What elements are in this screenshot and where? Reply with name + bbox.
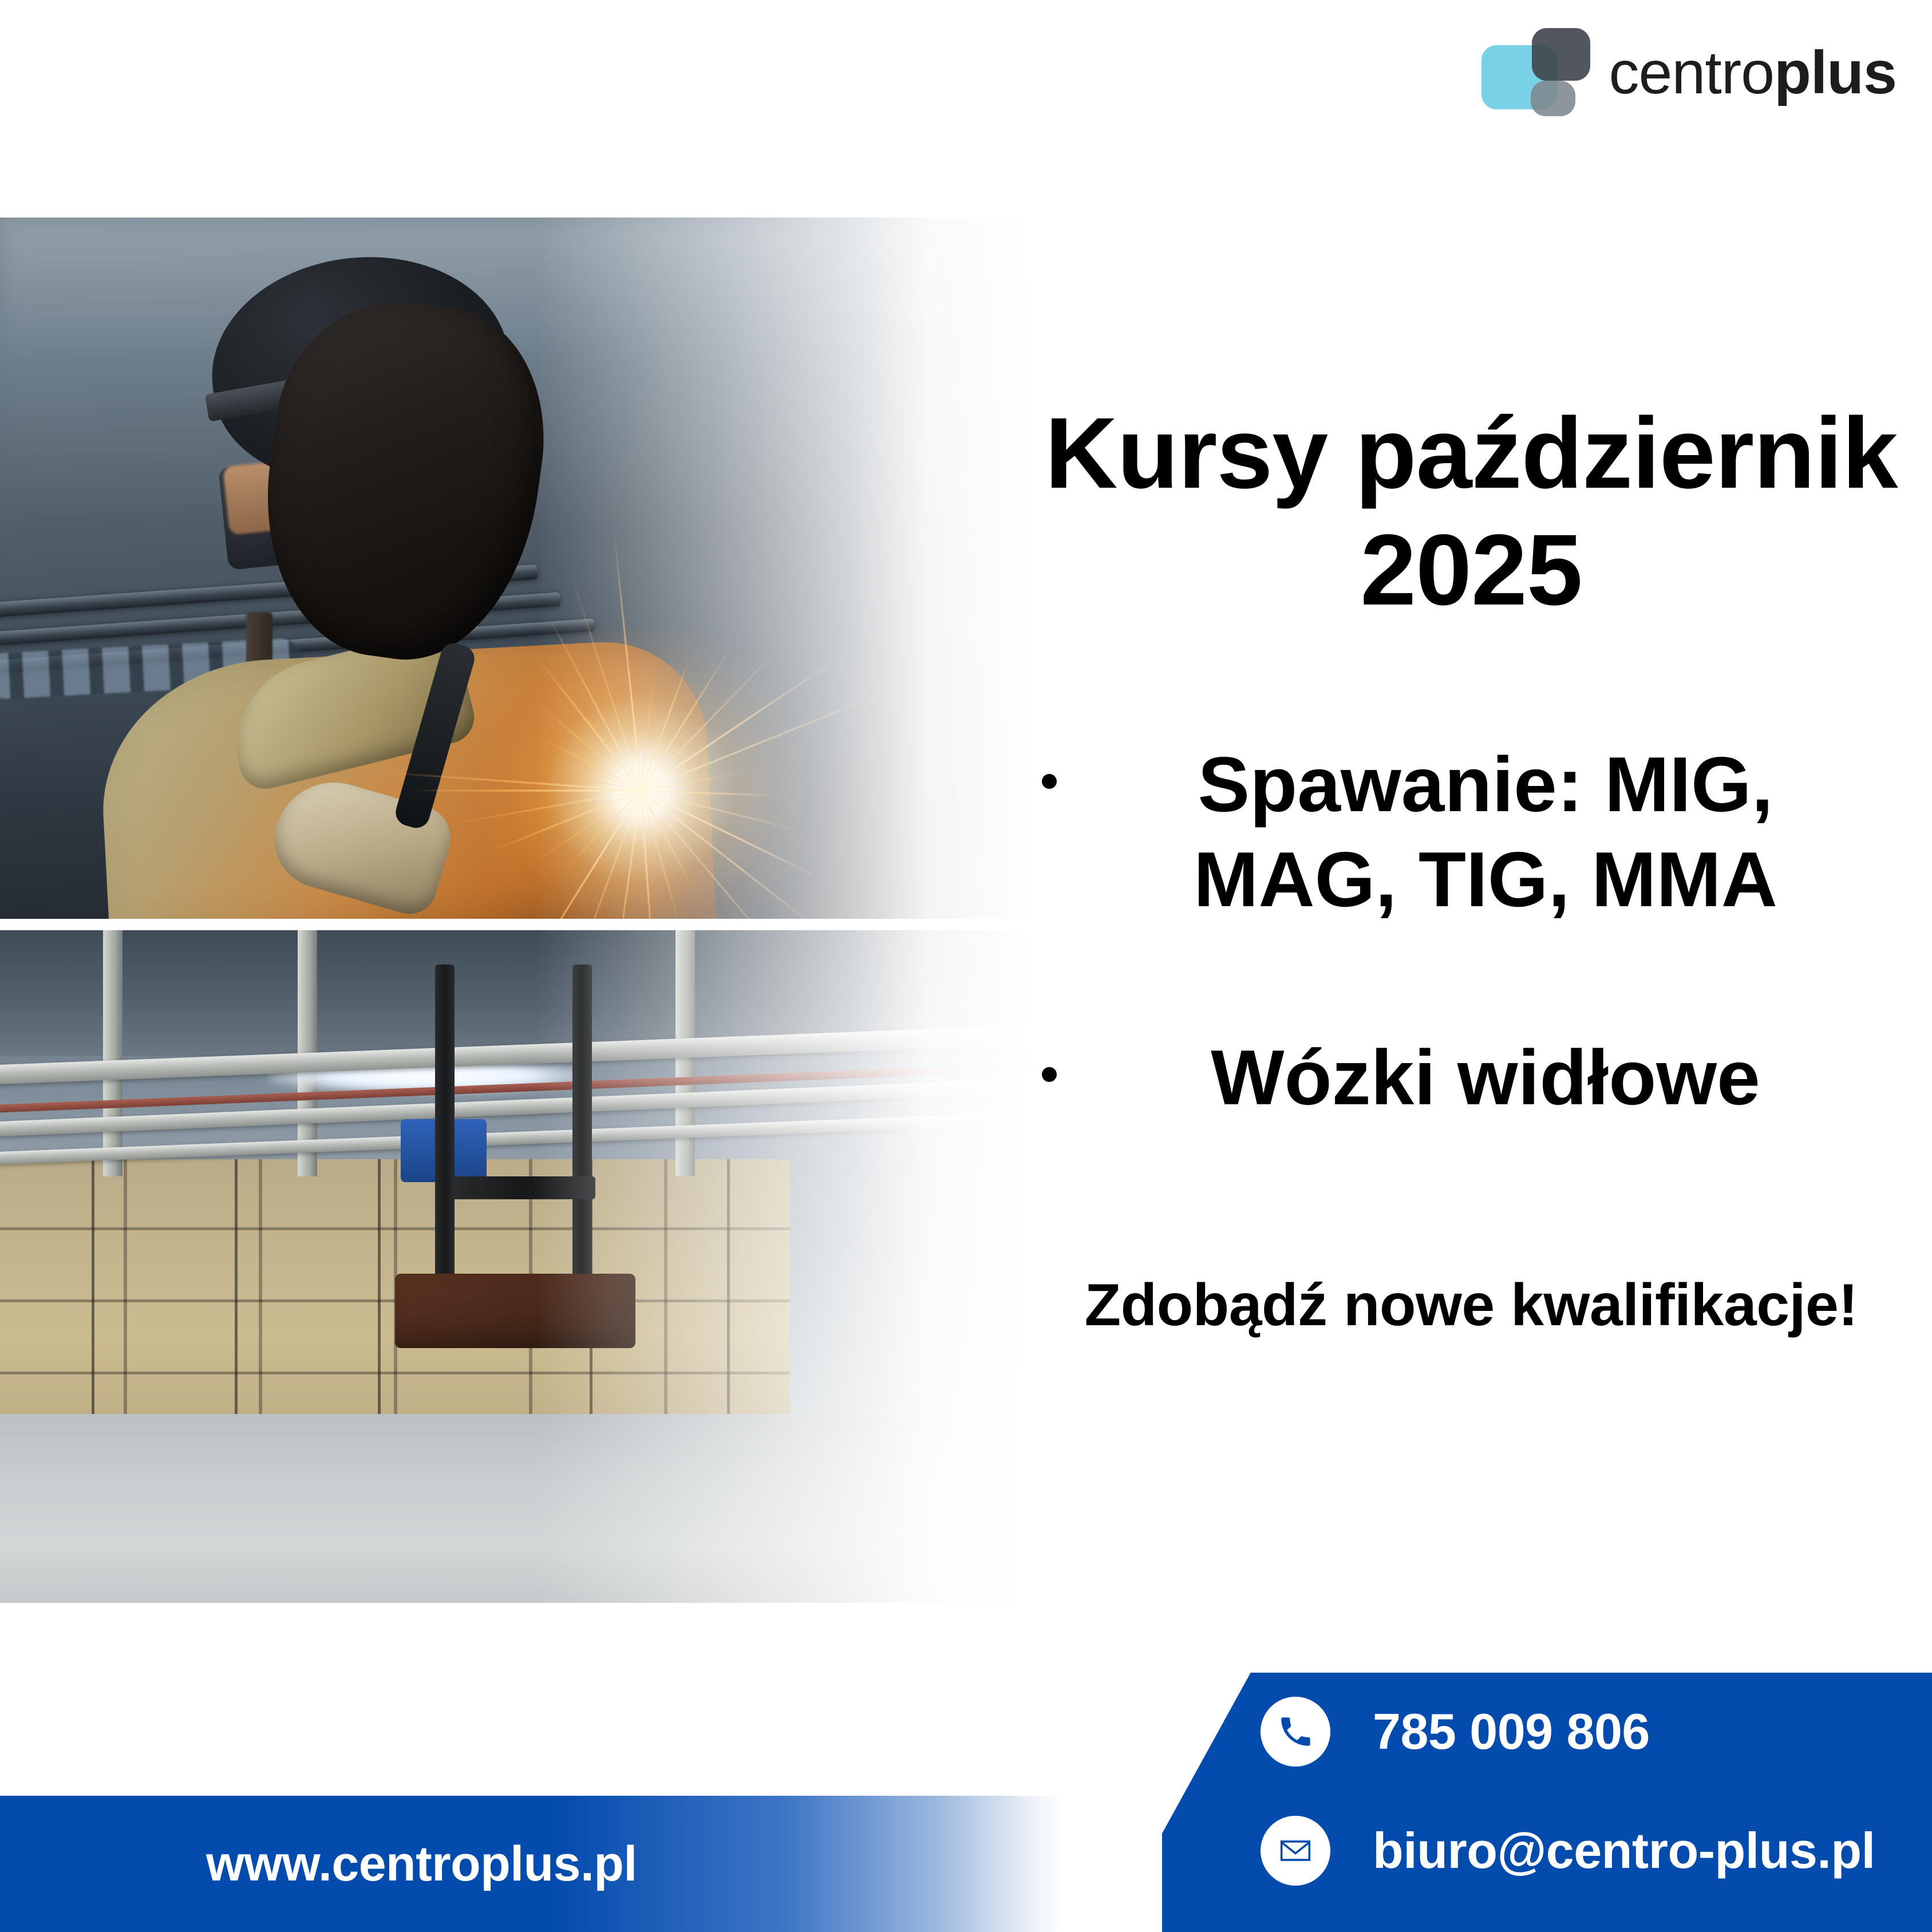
phone-number[interactable]: 785 009 806 [1373, 1702, 1650, 1761]
phone-icon [1261, 1697, 1330, 1767]
bullet-dot-icon [1042, 774, 1057, 789]
photo-welder [0, 218, 1030, 919]
logo-word-plus: plus [1774, 39, 1897, 106]
forklift-carriage [452, 1176, 595, 1199]
tagline: Zdobądź nowe kwalifikacje! [1036, 1271, 1906, 1340]
forklift-load-board [395, 1274, 635, 1348]
logo-mark-icon [1481, 25, 1594, 121]
bullet-dot-icon [1042, 1067, 1057, 1082]
contact-phone-row[interactable]: 785 009 806 [1261, 1697, 1650, 1767]
poster-canvas: centroplus [0, 0, 1932, 1932]
logo-square-gray-icon [1531, 81, 1575, 116]
course-label: Wózki widłowe [1211, 1034, 1760, 1121]
logo-word-centro: centro [1609, 39, 1774, 106]
warehouse-column [103, 930, 123, 1176]
course-label: Spawanie: MIG, MAG, TIG, MMA [1194, 741, 1777, 923]
list-item: Wózki widłowe [1036, 1030, 1906, 1125]
page-title: Kursy październik 2025 [1036, 395, 1906, 629]
footer-bar: www.centroplus.pl [0, 1796, 1065, 1932]
website-link[interactable]: www.centroplus.pl [206, 1836, 637, 1893]
course-list: Spawanie: MIG, MAG, TIG, MMA Wózki widło… [1036, 737, 1906, 1125]
email-address[interactable]: biuro@centro-plus.pl [1373, 1822, 1875, 1880]
list-item: Spawanie: MIG, MAG, TIG, MMA [1036, 737, 1906, 927]
contact-email-row[interactable]: biuro@centro-plus.pl [1261, 1816, 1875, 1886]
envelope-icon [1261, 1816, 1330, 1886]
contact-panel: 785 009 806 biuro@centro-plus.pl [1162, 1673, 1932, 1932]
logo-square-dark-icon [1532, 28, 1590, 81]
brand-logo[interactable]: centroplus [1481, 30, 1897, 116]
weld-arc-flash [481, 630, 801, 919]
warehouse-floor [0, 1414, 1030, 1603]
logo-wordmark: centroplus [1609, 42, 1897, 103]
photo-forklifts [0, 930, 1030, 1603]
content-column: Kursy październik 2025 Spawanie: MIG, MA… [1036, 395, 1906, 1340]
